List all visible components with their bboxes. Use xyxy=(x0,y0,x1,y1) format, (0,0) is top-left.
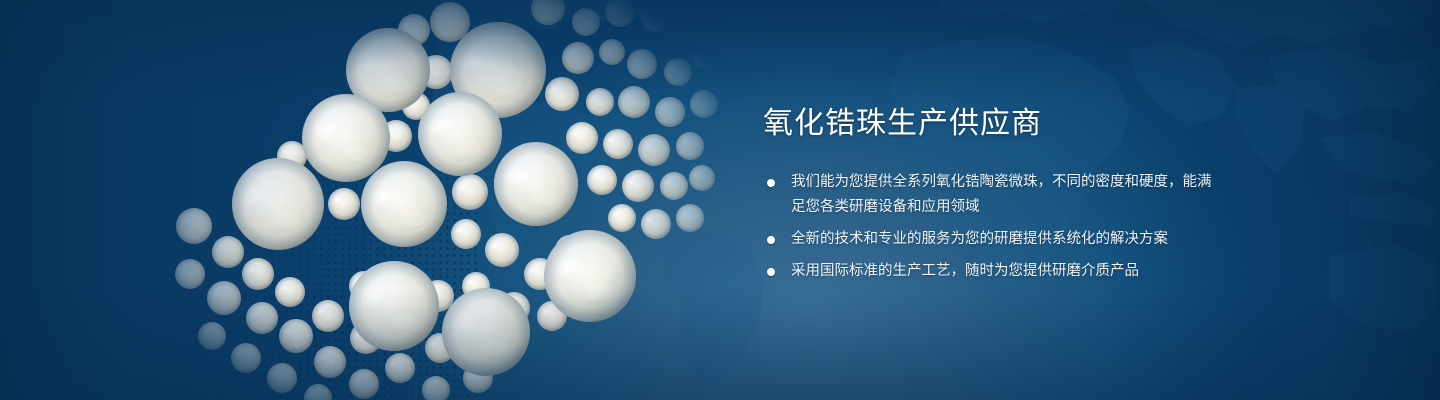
list-item: 采用国际标准的生产工艺，随时为您提供研磨介质产品 xyxy=(763,259,1223,284)
edge-vignette xyxy=(0,0,1440,400)
page-title: 氧化锆珠生产供应商 xyxy=(763,104,1223,144)
list-item: 全新的技术和专业的服务为您的研磨提供系统化的解决方案 xyxy=(763,227,1223,252)
hero-banner: 氧化锆珠生产供应商 我们能为您提供全系列氧化锆陶瓷微珠，不同的密度和硬度，能满足… xyxy=(0,0,1440,400)
bullet-dot-icon xyxy=(767,179,775,187)
bullet-dot-icon xyxy=(767,268,775,276)
feature-bullet-list: 我们能为您提供全系列氧化锆陶瓷微珠，不同的密度和硬度，能满足您各类研磨设备和应用… xyxy=(763,170,1223,284)
list-item-label: 采用国际标准的生产工艺，随时为您提供研磨介质产品 xyxy=(791,259,1223,284)
list-item-label: 全新的技术和专业的服务为您的研磨提供系统化的解决方案 xyxy=(791,227,1223,252)
bullet-dot-icon xyxy=(767,236,775,244)
banner-copy: 氧化锆珠生产供应商 我们能为您提供全系列氧化锆陶瓷微珠，不同的密度和硬度，能满足… xyxy=(763,104,1223,284)
list-item: 我们能为您提供全系列氧化锆陶瓷微珠，不同的密度和硬度，能满足您各类研磨设备和应用… xyxy=(763,170,1223,220)
list-item-label: 我们能为您提供全系列氧化锆陶瓷微珠，不同的密度和硬度，能满足您各类研磨设备和应用… xyxy=(791,170,1223,220)
